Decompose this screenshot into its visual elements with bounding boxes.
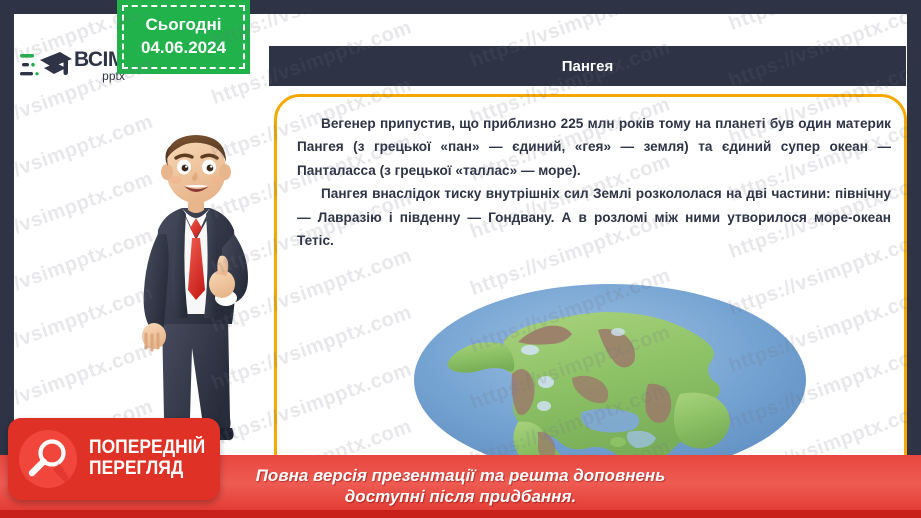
preview-badge[interactable]: ПОПЕРЕДНІЙ ПЕРЕГЛЯД — [8, 418, 220, 500]
businessman-character — [110, 118, 282, 450]
preview-badge-line-1: ПОПЕРЕДНІЙ — [89, 438, 205, 459]
date-badge-label: Сьогодні — [146, 14, 222, 37]
pangea-map-illustration — [412, 282, 808, 478]
page-title: Пангея — [562, 58, 614, 75]
date-badge-value: 04.06.2024 — [141, 37, 226, 60]
watermark-text: https://vsimpptx.com — [467, 14, 673, 15]
body-paragraph-2: Пангея внаслідок тиску внутрішніх сил Зе… — [297, 182, 891, 252]
banner-line-2: доступні після придбання. — [345, 487, 576, 508]
preview-badge-text: ПОПЕРЕДНІЙ ПЕРЕГЛЯД — [89, 438, 205, 480]
watermark-text: https://vsimpptx.com — [726, 14, 907, 35]
body-paragraph-1: Вегенер припустив, що приблизно 225 млн … — [297, 112, 891, 182]
today-date-badge: Сьогодні 04.06.2024 — [117, 0, 250, 74]
banner-line-1: Повна версія презентації та решта доповн… — [256, 466, 666, 487]
slide-root: ВСІМ pptx Пангея Вегенер припустив, що п… — [0, 0, 921, 518]
preview-badge-line-2: ПЕРЕГЛЯД — [89, 459, 205, 480]
graduation-cap-icon — [20, 44, 72, 88]
body-text-block: Вегенер припустив, що приблизно 225 млн … — [297, 112, 891, 252]
magnifier-icon — [19, 430, 77, 488]
slide-title-bar: Пангея — [269, 46, 906, 86]
